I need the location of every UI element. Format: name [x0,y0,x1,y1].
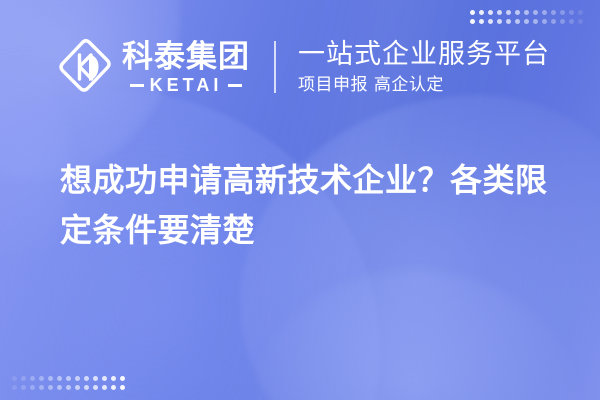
decor-dot [506,10,511,15]
decor-dot [551,19,556,24]
dot-row [470,10,583,15]
decor-dot [111,385,116,390]
dot-row [470,19,583,24]
dash-right-icon [228,84,242,87]
decor-dot [48,376,53,381]
decor-dot [578,10,583,15]
dash-left-icon [130,84,144,87]
decor-dot [111,376,116,381]
decor-dot [30,385,35,390]
decor-dot [102,376,107,381]
decor-dot [21,385,26,390]
decor-dot [569,19,574,24]
decor-dot [470,19,475,24]
decor-dot [93,385,98,390]
decor-dot [12,376,17,381]
brand-name-en-row: KETAI [130,76,243,95]
tagline-block: 一站式企业服务平台 项目申报 高企认定 [298,39,550,96]
decor-dot [515,19,520,24]
decor-dot [66,385,71,390]
headline-text: 想成功申请高新技术企业？各类限定条件要清楚 [60,155,552,255]
dot-row [12,376,125,381]
decor-dot [578,19,583,24]
decor-dot [57,376,62,381]
decor-dot [479,10,484,15]
decor-dot [75,385,80,390]
ketai-diamond-kt-logo-icon [58,38,112,96]
decor-dot [488,19,493,24]
tagline-main: 一站式企业服务平台 [298,39,550,71]
decor-dot [551,10,556,15]
decor-dot [30,376,35,381]
decor-dot [84,385,89,390]
decor-dot [120,376,125,381]
brand-logo[interactable]: 科泰集团 KETAI [58,38,250,96]
decor-dot [102,385,107,390]
decor-dot [569,10,574,15]
decor-dot [48,385,53,390]
decor-dot [542,10,547,15]
promo-banner: 科泰集团 KETAI 一站式企业服务平台 项目申报 高企认定 想成功申请高新技术… [0,0,600,400]
decor-dot [93,376,98,381]
decor-dot [560,10,565,15]
decor-dot [524,10,529,15]
dot-grid-bottom-left [12,376,125,390]
decor-dot [497,10,502,15]
dot-grid-top-right [470,10,583,24]
decor-dot [515,10,520,15]
decor-dot [524,19,529,24]
brand-name-en: KETAI [150,76,223,95]
decor-dot [533,10,538,15]
decor-dot [533,19,538,24]
tagline-sub: 项目申报 高企认定 [298,74,550,96]
decor-dot [57,385,62,390]
decor-dot [488,10,493,15]
brand-name-cn: 科泰集团 [122,40,250,74]
decor-dot [12,385,17,390]
decor-dot [66,376,71,381]
decor-dot [560,19,565,24]
decor-dot [542,19,547,24]
banner-header: 科泰集团 KETAI 一站式企业服务平台 项目申报 高企认定 [58,38,550,96]
decor-dot [120,385,125,390]
decor-dot [39,376,44,381]
decor-dot [84,376,89,381]
decor-dot [39,385,44,390]
decor-dot [506,19,511,24]
decor-dot [21,376,26,381]
brand-wordmark: 科泰集团 KETAI [122,40,250,95]
dot-row [12,385,125,390]
header-divider [274,41,276,93]
decor-dot [479,19,484,24]
decor-dot [75,376,80,381]
decor-dot [470,10,475,15]
decor-dot [497,19,502,24]
